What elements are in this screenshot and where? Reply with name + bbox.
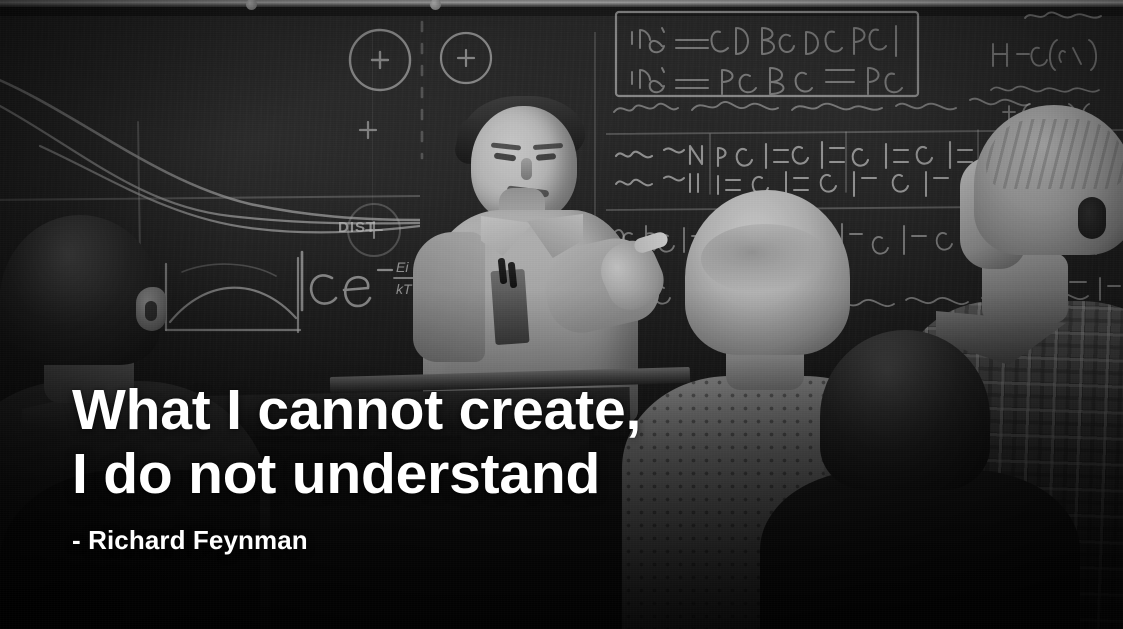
quote-line-1: What I cannot create, bbox=[72, 378, 832, 442]
quote-line-2: I do not understand bbox=[72, 442, 832, 506]
student-plaid-ear bbox=[1078, 197, 1106, 239]
chalk-rail-knob bbox=[246, 0, 257, 10]
quote-attribution: - Richard Feynman bbox=[72, 525, 832, 555]
person-student-front bbox=[800, 330, 1060, 629]
chalk-rail bbox=[0, 0, 1123, 7]
feynman-shoulder bbox=[413, 232, 485, 362]
chalk-rail-knob bbox=[430, 0, 441, 10]
student-front-head bbox=[820, 330, 990, 490]
feynman-nose bbox=[521, 158, 532, 180]
quote-block: What I cannot create, I do not understan… bbox=[72, 378, 832, 555]
student-left-hair bbox=[0, 215, 160, 365]
student-plaid-hair-texture bbox=[986, 119, 1123, 189]
blackboard-seam bbox=[372, 32, 373, 232]
student-left-ear bbox=[136, 287, 166, 331]
quote-banner: DIST Ei kT bbox=[0, 0, 1123, 629]
